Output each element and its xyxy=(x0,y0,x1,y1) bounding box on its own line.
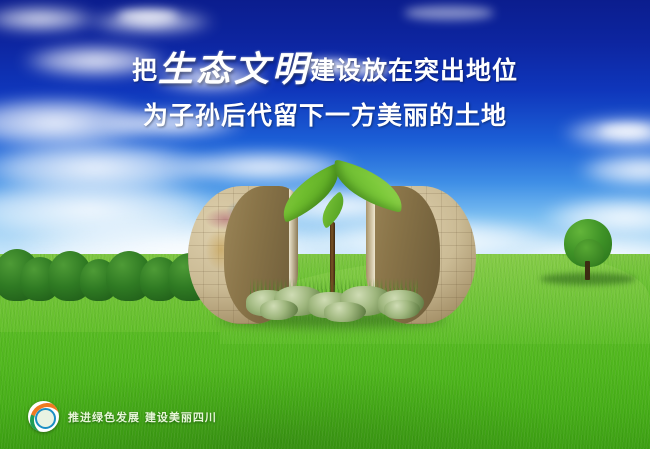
headline-line-2: 为子孙后代留下一方美丽的土地 xyxy=(0,96,650,132)
egg-globe-sprout xyxy=(188,186,476,338)
headline-brush-phrase: 生态文明 xyxy=(158,49,310,90)
cloud-puff xyxy=(404,6,494,20)
sichuan-green-emblem-icon xyxy=(28,401,59,432)
headline-rest: 建设放在突出地位 xyxy=(310,56,518,85)
cloud-wisp xyxy=(0,6,100,32)
headline-prefix: 把 xyxy=(132,56,158,85)
eco-civilization-poster: 把生态文明建设放在突出地位 为子孙后代留下一方美丽的土地 推进绿色发展 建设美丽… xyxy=(0,0,650,449)
headline-block: 把生态文明建设放在突出地位 为子孙后代留下一方美丽的土地 xyxy=(0,52,650,132)
footer-slogan: 推进绿色发展 建设美丽四川 xyxy=(68,409,217,425)
emblem-blue-core xyxy=(35,408,56,429)
cloud-wisp xyxy=(576,152,650,188)
footer-logo-block: 推进绿色发展 建设美丽四川 xyxy=(28,401,217,432)
tree-trunk xyxy=(585,261,590,280)
headline-line-1: 把生态文明建设放在突出地位 xyxy=(0,52,650,87)
solitary-tree xyxy=(560,219,616,281)
cloud-puff xyxy=(118,10,178,22)
